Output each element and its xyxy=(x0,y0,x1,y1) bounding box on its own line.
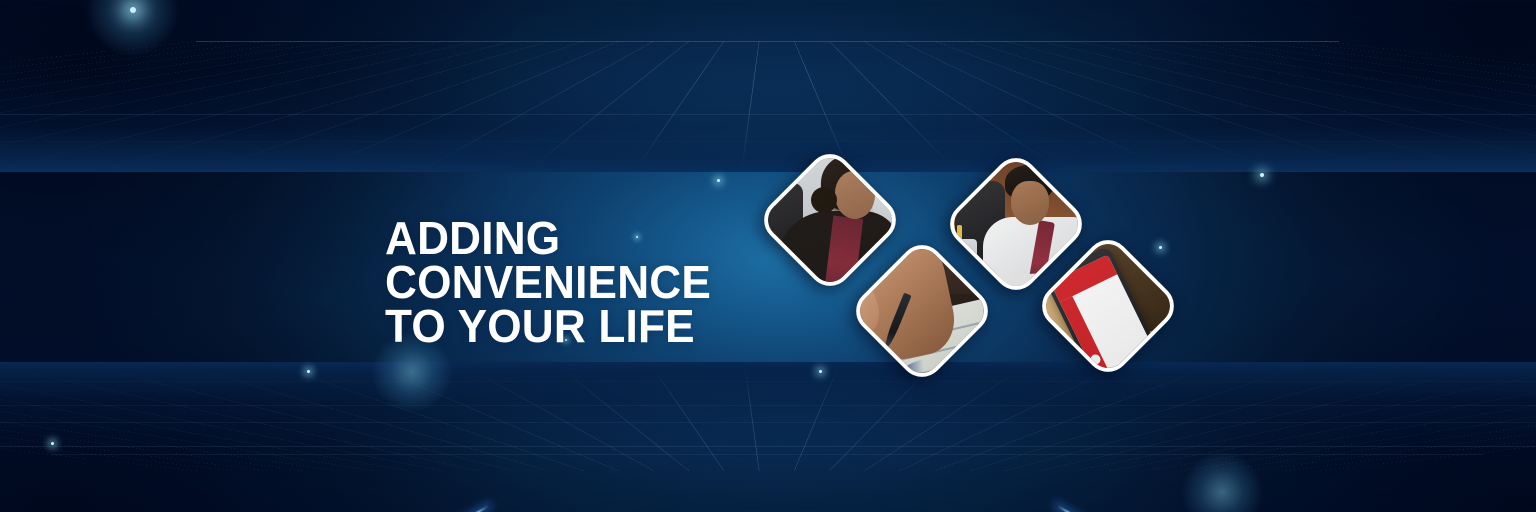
headline-line-1: ADDING xyxy=(385,216,711,260)
face-shape xyxy=(1011,181,1049,225)
hero-banner: ADDING CONVENIENCE TO YOUR LIFE xyxy=(0,0,1536,512)
headline-line-2: CONVENIENCE xyxy=(385,260,711,304)
hair-bun-shape xyxy=(811,187,837,213)
background-vignette xyxy=(0,0,1536,512)
headline-line-3: TO YOUR LIFE xyxy=(385,304,711,348)
page-title: ADDING CONVENIENCE TO YOUR LIFE xyxy=(385,216,711,348)
